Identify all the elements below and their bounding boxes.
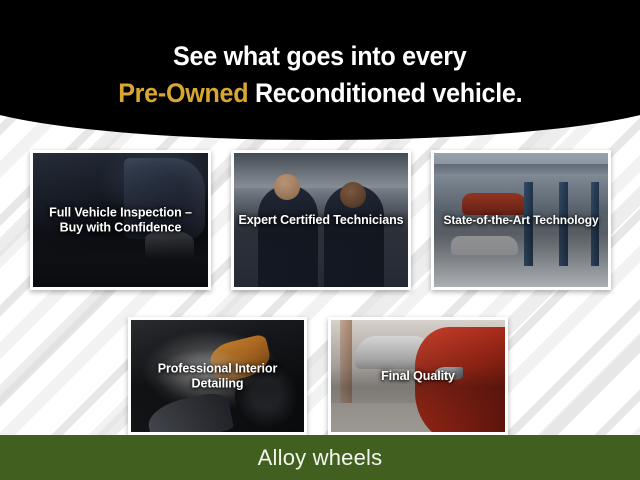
- headline-rest-text: Reconditioned vehicle.: [248, 78, 522, 108]
- feature-card-professional-interior-detailing[interactable]: Professional Interior Detailing: [128, 317, 307, 435]
- headline-highlight-text: Pre-Owned: [118, 78, 248, 108]
- feature-card-expert-certified-technicians[interactable]: Expert Certified Technicians: [231, 150, 411, 290]
- card-caption: Full Vehicle Inspection – Buy with Confi…: [33, 206, 208, 235]
- card-caption: Final Quality: [331, 369, 505, 384]
- header-content: See what goes into every Pre-Owned Recon…: [0, 0, 640, 140]
- headline-line-2: Pre-Owned Reconditioned vehicle.: [118, 77, 522, 109]
- bottom-caption-label: Alloy wheels: [258, 445, 383, 471]
- card-caption: State-of-the-Art Technology: [434, 213, 608, 228]
- card-caption: Professional Interior Detailing: [131, 362, 304, 391]
- feature-card-state-of-the-art-technology[interactable]: State-of-the-Art Technology: [431, 150, 611, 290]
- bottom-caption-bar: Alloy wheels: [0, 435, 640, 480]
- feature-card-final-quality[interactable]: Final Quality: [328, 317, 508, 435]
- card-caption: Expert Certified Technicians: [234, 213, 408, 228]
- headline-line-1: See what goes into every: [173, 40, 466, 72]
- header-banner: See what goes into every Pre-Owned Recon…: [0, 0, 640, 140]
- feature-card-full-vehicle-inspection[interactable]: Full Vehicle Inspection – Buy with Confi…: [30, 150, 211, 290]
- promo-graphic: See what goes into every Pre-Owned Recon…: [0, 0, 640, 480]
